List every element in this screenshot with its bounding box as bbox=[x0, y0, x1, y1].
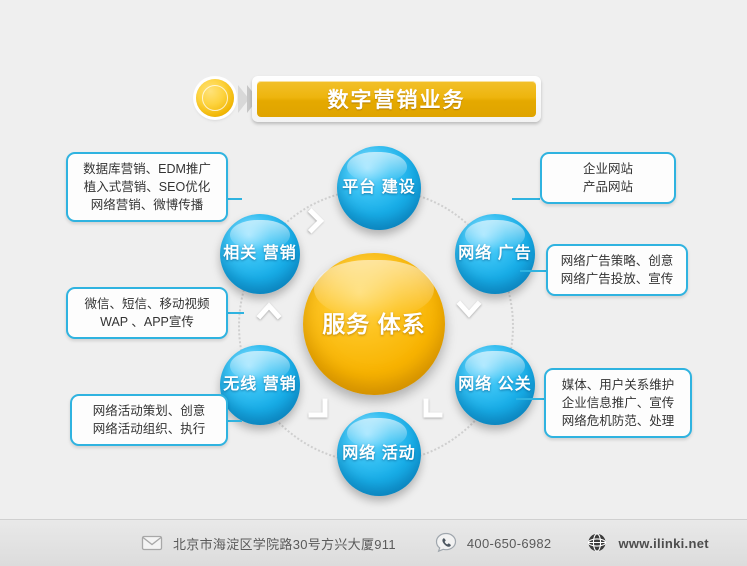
connector-related bbox=[228, 198, 242, 200]
node-online-advertising-label: 网络 广告 bbox=[458, 244, 531, 263]
footer-website-text: www.ilinki.net bbox=[618, 536, 708, 551]
node-wireless-marketing[interactable]: 无线 营销 bbox=[220, 345, 300, 425]
banner-plate: 数字营销业务 bbox=[252, 76, 541, 122]
flow-arrow-3 bbox=[419, 397, 445, 423]
info-box-related-marketing[interactable]: 数据库营销、EDM推广 植入式营销、SEO优化 网络营销、微博传播 bbox=[66, 152, 228, 222]
footer-bar: 北京市海淀区学院路30号方兴大厦911 400-650-6982 www.ili… bbox=[0, 519, 747, 566]
node-platform-label: 平台 建设 bbox=[342, 178, 415, 197]
envelope-icon bbox=[140, 531, 164, 555]
info-box-platform-text: 企业网站 产品网站 bbox=[551, 160, 665, 196]
info-box-platform[interactable]: 企业网站 产品网站 bbox=[540, 152, 676, 204]
page-title: 数字营销业务 bbox=[328, 84, 466, 114]
info-box-public-relations[interactable]: 媒体、用户关系维护 企业信息推广、宣传 网络危机防范、处理 bbox=[544, 368, 692, 438]
connector-platform bbox=[512, 198, 540, 200]
node-related-marketing[interactable]: 相关 营销 bbox=[220, 214, 300, 294]
footer-phone-text: 400-650-6982 bbox=[467, 536, 552, 551]
header-banner: 数字营销业务 bbox=[196, 76, 541, 122]
connector-wireless bbox=[228, 312, 244, 314]
info-box-online-activity-text: 网络活动策划、创意 网络活动组织、执行 bbox=[81, 402, 217, 438]
node-platform[interactable]: 平台 建设 bbox=[337, 146, 421, 230]
info-box-online-advertising[interactable]: 网络广告策略、创意 网络广告投放、宣传 bbox=[546, 244, 688, 296]
diagram-canvas: 数字营销业务 服务 体系 平台 建设 相关 营销 网络 广告 无线 营销 网络 … bbox=[0, 0, 747, 566]
node-wireless-marketing-label: 无线 营销 bbox=[223, 375, 296, 394]
flow-arrow-4 bbox=[306, 397, 332, 423]
banner-inner: 数字营销业务 bbox=[257, 81, 536, 117]
center-node-label: 服务 体系 bbox=[322, 310, 425, 338]
footer-address: 北京市海淀区学院路30号方兴大厦911 bbox=[140, 531, 396, 555]
node-public-relations[interactable]: 网络 公关 bbox=[455, 345, 535, 425]
info-box-related-marketing-text: 数据库营销、EDM推广 植入式营销、SEO优化 网络营销、微博传播 bbox=[77, 160, 217, 214]
connector-activity bbox=[228, 420, 242, 422]
info-box-online-advertising-text: 网络广告策略、创意 网络广告投放、宣传 bbox=[557, 252, 677, 288]
telephone-icon bbox=[434, 531, 458, 555]
connector-pr bbox=[516, 398, 544, 400]
center-node-service-system[interactable]: 服务 体系 bbox=[303, 253, 445, 395]
info-box-wireless-marketing-text: 微信、短信、移动视频 WAP 、APP宣传 bbox=[77, 295, 217, 331]
footer-address-text: 北京市海淀区学院路30号方兴大厦911 bbox=[173, 534, 396, 553]
footer-phone[interactable]: 400-650-6982 bbox=[434, 531, 552, 555]
flow-arrow-2 bbox=[456, 298, 482, 324]
node-public-relations-label: 网络 公关 bbox=[458, 375, 531, 394]
footer-website[interactable]: www.ilinki.net bbox=[585, 531, 708, 555]
gold-coin-icon bbox=[196, 79, 234, 117]
globe-icon bbox=[585, 531, 609, 555]
node-related-marketing-label: 相关 营销 bbox=[223, 244, 296, 263]
node-online-advertising[interactable]: 网络 广告 bbox=[455, 214, 535, 294]
connector-ads bbox=[520, 270, 546, 272]
node-online-activity[interactable]: 网络 活动 bbox=[337, 412, 421, 496]
info-box-wireless-marketing[interactable]: 微信、短信、移动视频 WAP 、APP宣传 bbox=[66, 287, 228, 339]
node-online-activity-label: 网络 活动 bbox=[342, 444, 415, 463]
flow-arrow-5 bbox=[256, 298, 282, 324]
info-box-online-activity[interactable]: 网络活动策划、创意 网络活动组织、执行 bbox=[70, 394, 228, 446]
info-box-public-relations-text: 媒体、用户关系维护 企业信息推广、宣传 网络危机防范、处理 bbox=[555, 376, 681, 430]
